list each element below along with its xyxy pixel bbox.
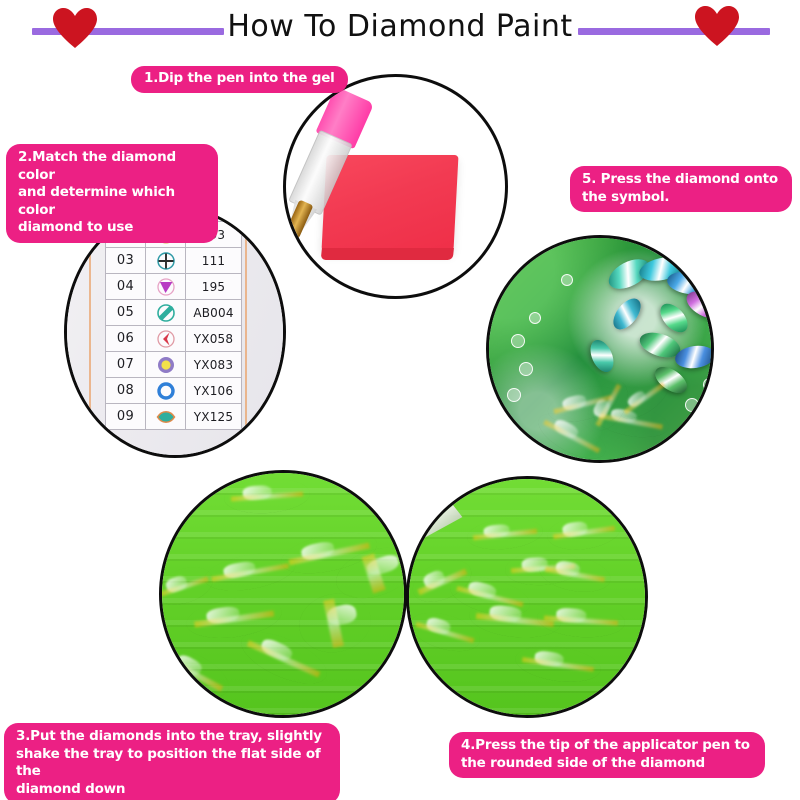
legend-row: 05AB004 xyxy=(106,300,242,326)
legend-code: 07 xyxy=(106,352,146,378)
legend-symbol-icon xyxy=(146,326,186,352)
infographic-page: How To Diamond Paint 1.Dip the pen into … xyxy=(0,0,800,800)
legend-code: 08 xyxy=(106,378,146,404)
step-5-label: 5. Press the diamond onto the symbol. xyxy=(570,166,792,212)
legend-number: AB004 xyxy=(186,300,242,326)
header: How To Diamond Paint xyxy=(0,0,800,58)
printed-symbol xyxy=(529,312,541,324)
page-title: How To Diamond Paint xyxy=(0,4,800,50)
step-3-photo xyxy=(159,470,407,718)
step-1-label: 1.Dip the pen into the gel xyxy=(131,66,348,93)
legend-symbol-icon xyxy=(146,274,186,300)
legend-code: 04 xyxy=(106,274,146,300)
step-2-photo: 02002093031110419505AB00406YX05807YX0830… xyxy=(64,206,286,458)
sheet-margin-line xyxy=(89,206,91,458)
step-3-label: 3.Put the diamonds into the tray, slight… xyxy=(4,723,340,800)
step-4-photo xyxy=(406,476,648,718)
legend-symbol-icon xyxy=(146,352,186,378)
legend-number: 195 xyxy=(186,274,242,300)
sheet-margin-line xyxy=(245,206,247,458)
legend-number: 111 xyxy=(186,248,242,274)
legend-row: 03111 xyxy=(106,248,242,274)
legend-symbol-icon xyxy=(146,378,186,404)
legend-row: 09YX125 xyxy=(106,404,242,430)
legend-row: 08YX106 xyxy=(106,378,242,404)
legend-number: YX106 xyxy=(186,378,242,404)
legend-code: 03 xyxy=(106,248,146,274)
legend-code: 06 xyxy=(106,326,146,352)
legend-row: 07YX083 xyxy=(106,352,242,378)
legend-row: 06YX058 xyxy=(106,326,242,352)
legend-number: YX058 xyxy=(186,326,242,352)
step-2-label: 2.Match the diamond color and determine … xyxy=(6,144,218,243)
legend-row: 04195 xyxy=(106,274,242,300)
legend-number: YX083 xyxy=(186,352,242,378)
legend-symbol-icon xyxy=(146,300,186,326)
legend-code: 05 xyxy=(106,300,146,326)
printed-symbol xyxy=(697,254,709,266)
printed-symbol xyxy=(519,362,533,376)
printed-symbol xyxy=(511,334,525,348)
legend-symbol-icon xyxy=(146,404,186,430)
legend-code: 09 xyxy=(106,404,146,430)
step-5-photo xyxy=(486,235,714,463)
legend-number: YX125 xyxy=(186,404,242,430)
printed-symbol xyxy=(703,378,714,391)
step-1-photo xyxy=(283,74,508,299)
printed-symbol xyxy=(685,398,699,412)
printed-symbol xyxy=(507,388,521,402)
legend-symbol-icon xyxy=(146,248,186,274)
printed-symbol xyxy=(561,274,573,286)
step-4-label: 4.Press the tip of the applicator pen to… xyxy=(449,732,765,778)
